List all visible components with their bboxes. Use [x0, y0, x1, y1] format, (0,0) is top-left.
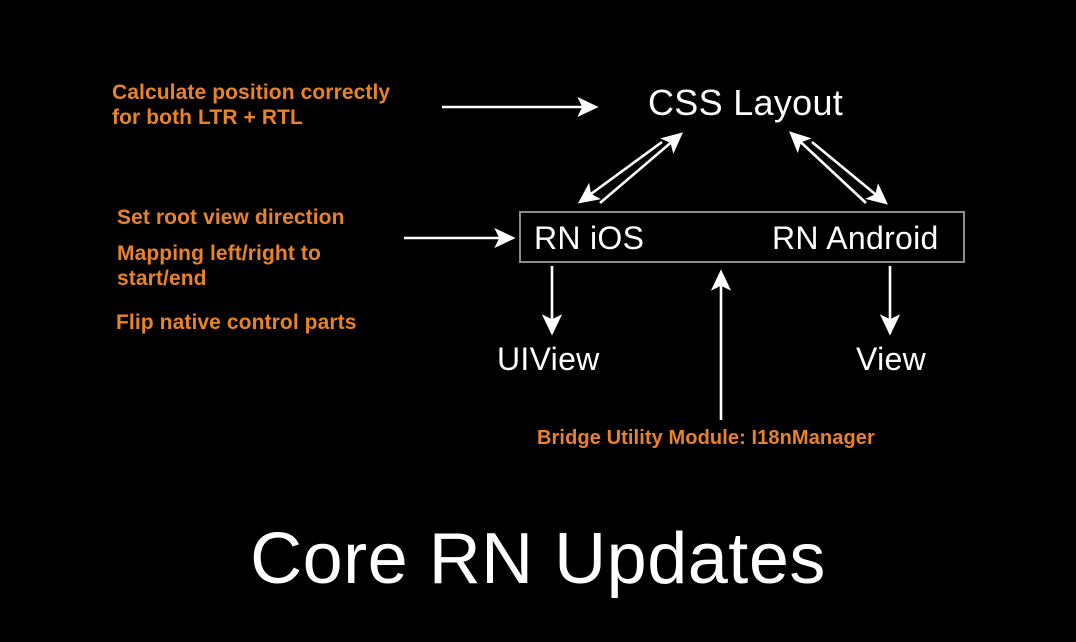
node-view: View	[856, 341, 926, 379]
node-css-layout: CSS Layout	[648, 82, 843, 124]
annotation-mapping-line1: Mapping left/right to	[117, 242, 321, 265]
annotation-flip-native-control-parts: Flip native control parts	[116, 311, 357, 336]
page-title: Core RN Updates	[0, 518, 1076, 600]
arrow-rn-ios-to-css-layout	[600, 134, 681, 203]
node-rn-ios: RN iOS	[534, 220, 644, 258]
annotation-set-root-view-direction: Set root view direction	[117, 206, 345, 231]
arrow-rn-android-to-css-layout	[791, 133, 866, 203]
arrow-css-layout-to-rn-android	[812, 142, 886, 203]
node-uiview: UIView	[497, 341, 600, 379]
annotation-mapping-left-right: Mapping left/right tostart/end	[117, 242, 321, 292]
slide-canvas: Calculate position correctlyfor both LTR…	[0, 0, 1076, 642]
annotation-mapping-line2: start/end	[117, 267, 207, 290]
node-rn-android: RN Android	[772, 220, 939, 258]
annotation-css-layout-line2: for both LTR + RTL	[112, 106, 303, 129]
annotation-bridge-utility-module: Bridge Utility Module: I18nManager	[537, 427, 875, 451]
annotation-css-layout-line1: Calculate position correctly	[112, 81, 390, 104]
arrow-css-layout-to-rn-ios	[580, 142, 662, 202]
annotation-css-layout: Calculate position correctlyfor both LTR…	[112, 81, 390, 131]
